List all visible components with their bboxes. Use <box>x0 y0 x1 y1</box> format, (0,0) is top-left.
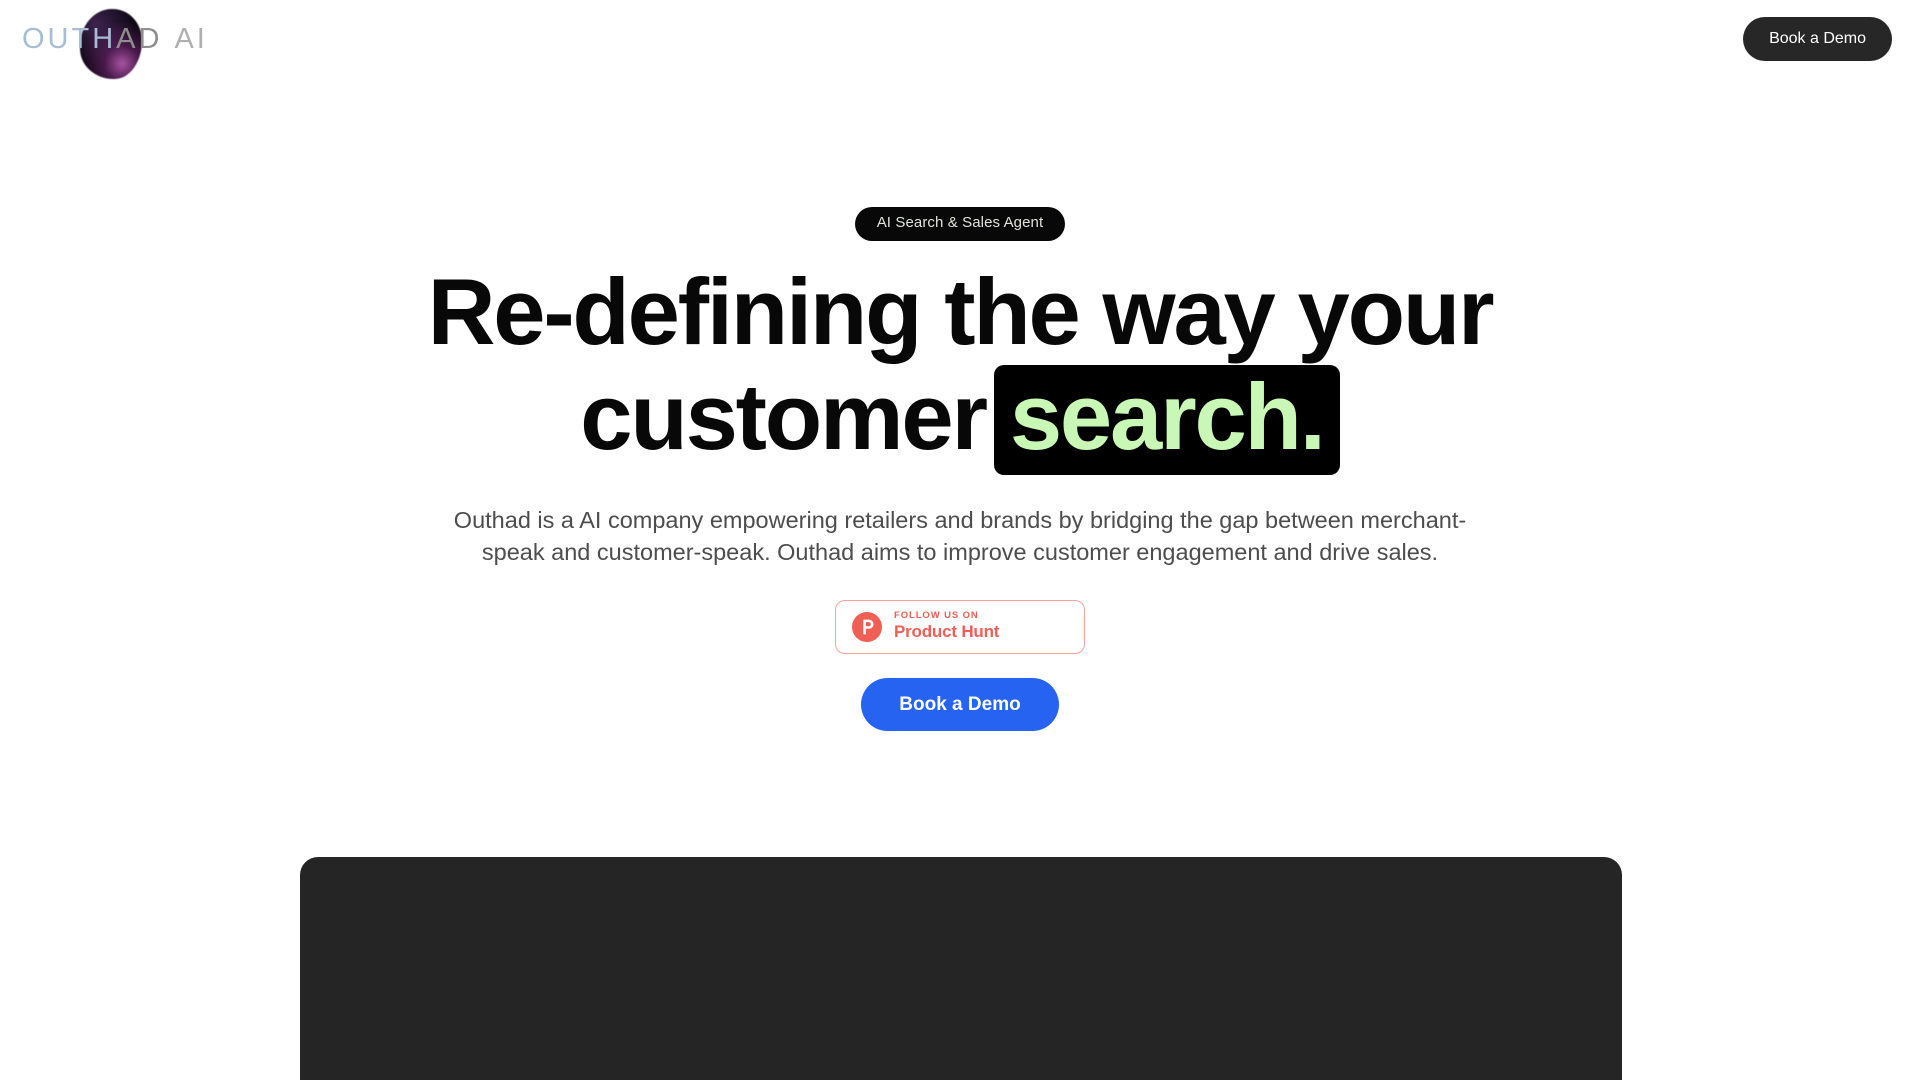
product-hunt-badge[interactable]: FOLLOW US ON Product Hunt <box>835 600 1085 654</box>
hero-title-highlight: search. <box>994 365 1340 475</box>
product-hunt-eyebrow: FOLLOW US ON <box>894 611 999 621</box>
hero-subtitle: Outhad is a AI company empowering retail… <box>438 505 1483 569</box>
hero-title-line-1: Re-defining the way your <box>428 259 1493 364</box>
brand-wordmark-outh: OUTH <box>22 23 116 55</box>
hero-title-line-2-plain: customer <box>580 364 986 469</box>
brand-logo[interactable]: OUTHADAI <box>18 8 258 70</box>
product-hunt-copy: FOLLOW US ON Product Hunt <box>894 611 999 641</box>
hero-section: AI Search & Sales Agent Re-defining the … <box>0 0 1920 731</box>
brand-wordmark: OUTHADAI <box>18 25 208 54</box>
site-header: OUTHADAI Book a Demo <box>0 0 1920 78</box>
brand-wordmark-ad: AD <box>116 23 162 55</box>
showcase-panel <box>300 857 1622 1080</box>
product-hunt-name: Product Hunt <box>894 623 999 642</box>
hero-book-a-demo-button[interactable]: Book a Demo <box>861 678 1058 732</box>
hero-badge[interactable]: AI Search & Sales Agent <box>855 207 1066 241</box>
hero-title: Re-defining the way your customersearch. <box>380 259 1540 475</box>
brand-wordmark-ai: AI <box>174 23 207 55</box>
product-hunt-icon <box>852 612 882 642</box>
header-book-a-demo-button[interactable]: Book a Demo <box>1743 17 1892 61</box>
